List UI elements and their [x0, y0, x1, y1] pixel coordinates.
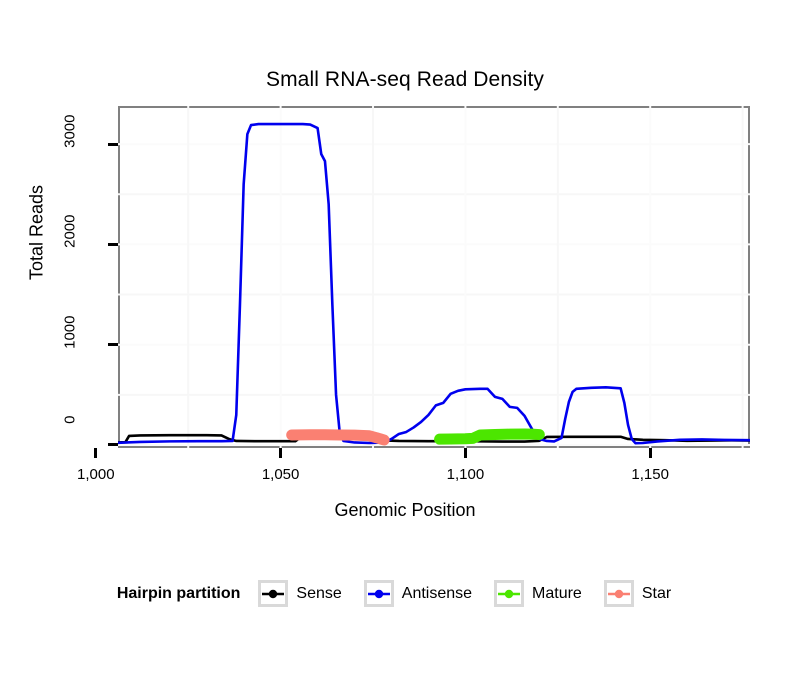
x-axis-label: Genomic Position	[0, 500, 810, 521]
legend-key-antisense-icon	[364, 580, 394, 607]
chart-figure: Small RNA-seq Read Density Total Reads G…	[0, 0, 810, 690]
x-tick-mark	[279, 448, 282, 458]
legend-label: Star	[642, 585, 671, 603]
x-tick-mark	[94, 448, 97, 458]
x-tick-mark	[464, 448, 467, 458]
y-tick-mark	[108, 143, 118, 146]
y-tick-label: 3000	[62, 115, 79, 175]
series-line-mature	[440, 434, 540, 439]
legend-key-sense-icon	[258, 580, 288, 607]
y-tick-label: 1000	[62, 315, 79, 375]
legend-label: Sense	[296, 585, 341, 603]
y-axis-label: Total Reads	[27, 133, 48, 333]
plot-canvas	[118, 106, 750, 448]
x-tick-mark	[649, 448, 652, 458]
legend-key-mature-icon	[494, 580, 524, 607]
x-tick-label: 1,000	[56, 466, 136, 483]
legend-item-sense[interactable]: Sense	[258, 580, 355, 607]
legend-title: Hairpin partition	[117, 585, 241, 603]
legend-label: Mature	[532, 585, 582, 603]
legend-item-star[interactable]: Star	[604, 580, 685, 607]
series-line-star	[292, 435, 384, 440]
legend-label: Antisense	[402, 585, 472, 603]
y-tick-label: 2000	[62, 215, 79, 275]
legend: Hairpin partition SenseAntisenseMatureSt…	[0, 580, 810, 607]
x-tick-label: 1,050	[241, 466, 321, 483]
y-tick-mark	[108, 243, 118, 246]
x-tick-label: 1,100	[425, 466, 505, 483]
legend-item-mature[interactable]: Mature	[494, 580, 596, 607]
legend-items: SenseAntisenseMatureStar	[258, 580, 693, 607]
legend-item-antisense[interactable]: Antisense	[364, 580, 486, 607]
y-tick-mark	[108, 443, 118, 446]
y-tick-mark	[108, 343, 118, 346]
x-tick-label: 1,150	[610, 466, 690, 483]
chart-title: Small RNA-seq Read Density	[0, 68, 810, 92]
legend-key-star-icon	[604, 580, 634, 607]
